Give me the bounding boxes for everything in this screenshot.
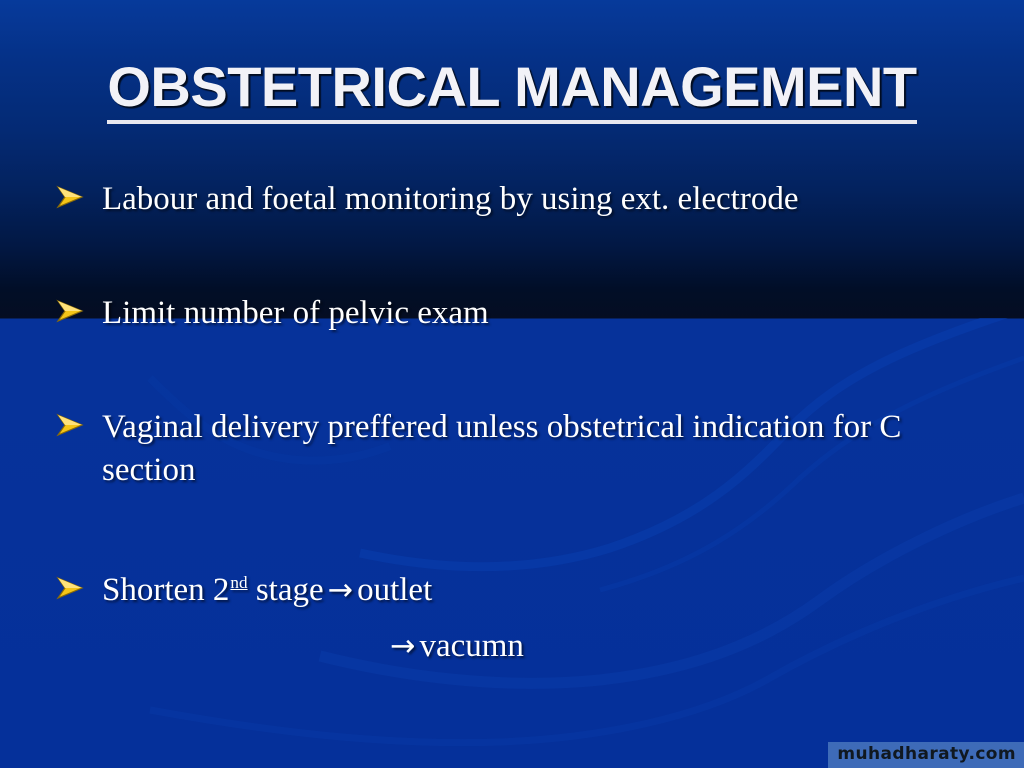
- list-item: Limit number of pelvic exam: [56, 292, 996, 334]
- slide-canvas: OBSTETRICAL MANAGEMENT Labour and foetal…: [0, 0, 1024, 768]
- list-item: Vaginal delivery preffered unless obstet…: [56, 406, 996, 490]
- vacumn-text: vacumn: [419, 628, 523, 664]
- list-item-label: Limit number of pelvic exam: [102, 292, 982, 334]
- slide-title-container: OBSTETRICAL MANAGEMENT: [0, 58, 1024, 124]
- right-arrow-icon: →: [324, 573, 357, 608]
- slide-body: Labour and foetal monitoring by using ex…: [56, 178, 996, 667]
- watermark: muhadharaty.com: [828, 742, 1024, 768]
- outlet-text: outlet: [357, 572, 432, 608]
- page-title: OBSTETRICAL MANAGEMENT: [107, 58, 916, 124]
- arrow-bullet-icon: [56, 185, 102, 219]
- ordinal-suffix: nd: [229, 573, 247, 592]
- right-arrow-icon: →: [386, 629, 419, 664]
- list-item-sub-line: →vacumn: [56, 625, 996, 667]
- arrow-bullet-icon: [56, 299, 102, 333]
- list-item: Labour and foetal monitoring by using ex…: [56, 178, 996, 220]
- arrow-bullet-icon: [56, 413, 102, 447]
- list-item-label: Shorten 2nd stage→outlet: [102, 569, 982, 611]
- list-item-label: Vaginal delivery preffered unless obstet…: [102, 406, 982, 490]
- list-item: Shorten 2nd stage→outlet: [56, 569, 996, 611]
- shorten-stage-text: Shorten 2: [102, 572, 229, 608]
- list-item-label: Labour and foetal monitoring by using ex…: [102, 178, 982, 220]
- stage-text: stage: [248, 572, 324, 608]
- arrow-bullet-icon: [56, 576, 102, 610]
